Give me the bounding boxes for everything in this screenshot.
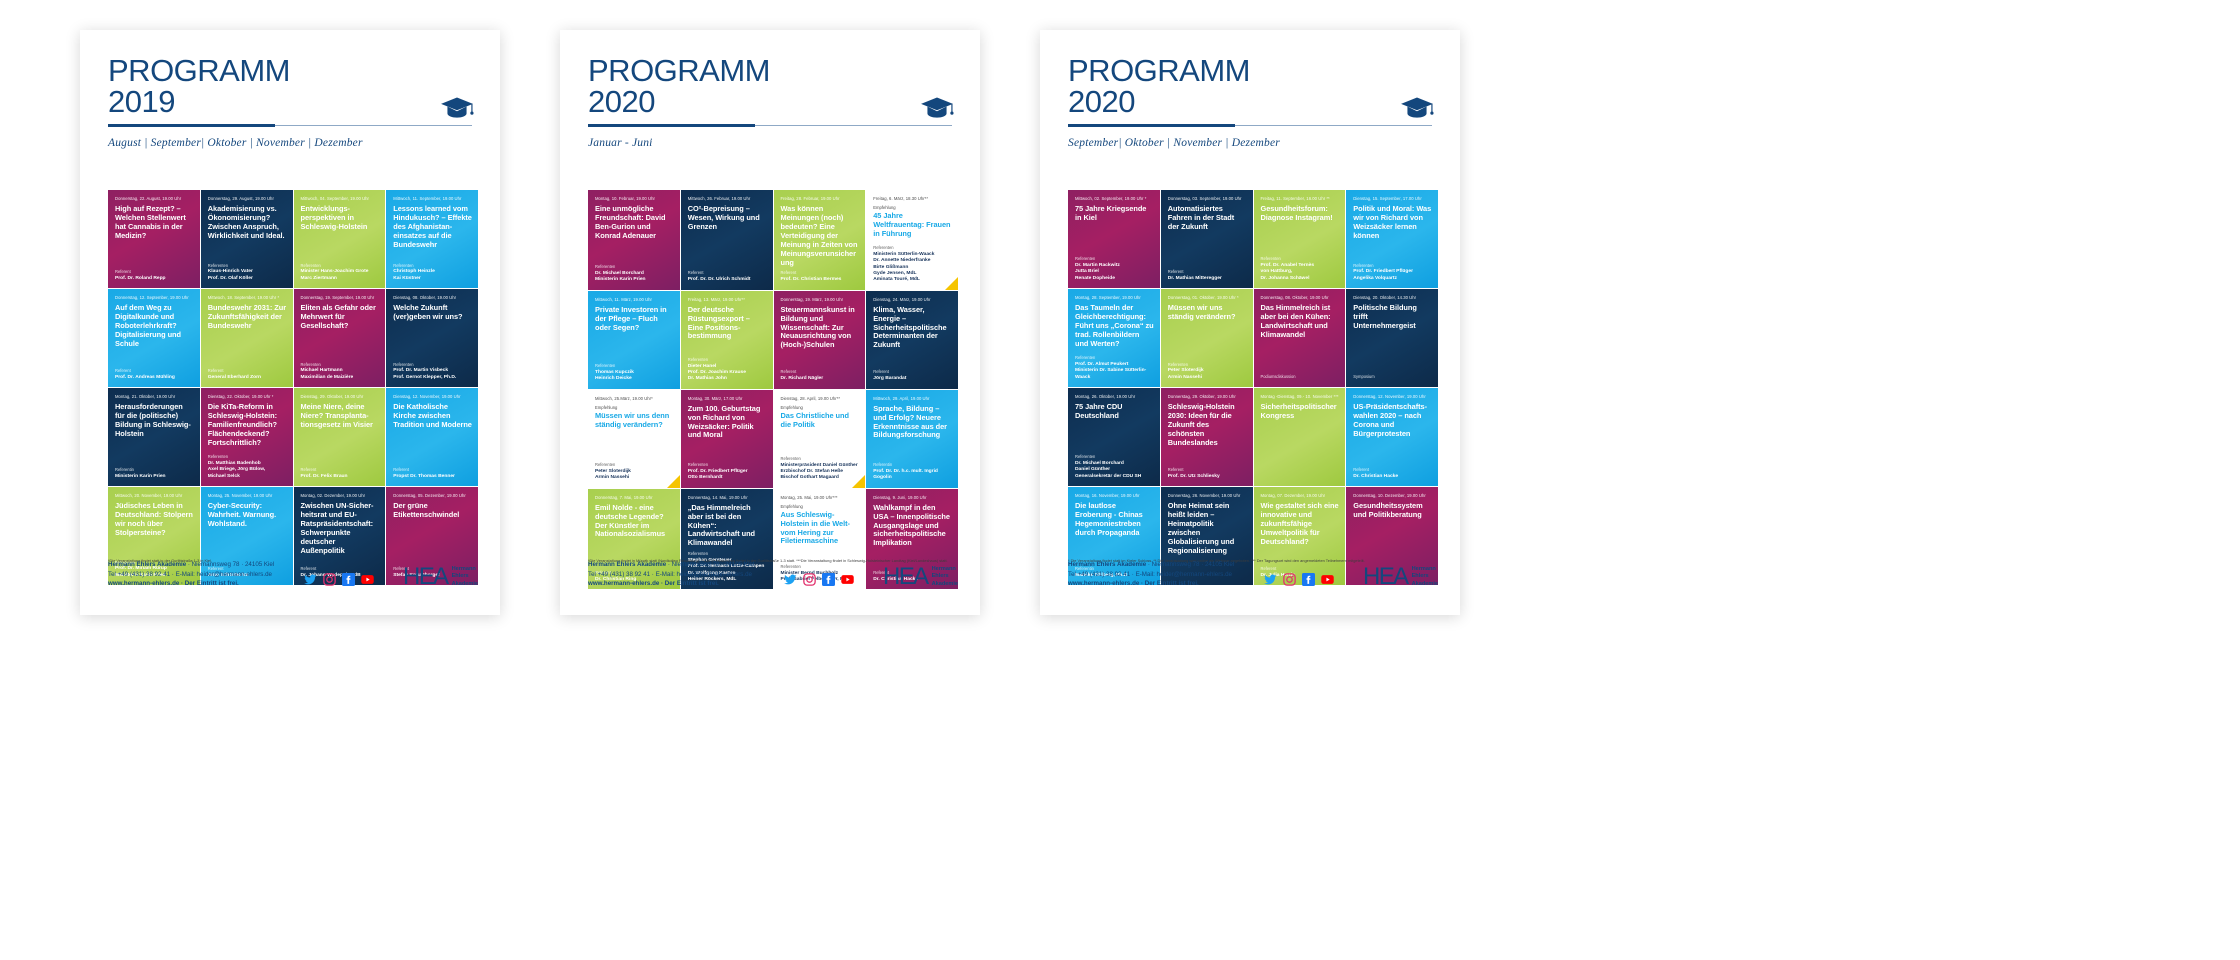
tile-date: Donnerstag, 08. Oktober, 19.00 Uhr (1261, 295, 1340, 300)
tile-speakers: Dr. Christian Hacke (1353, 474, 1432, 480)
tile-speaker-label: Referent (115, 369, 194, 374)
free-entry-note: · Der Eintritt ist frei. (179, 580, 238, 587)
event-tile[interactable]: Donnerstag, 29. August, 19.00 UhrAkademi… (201, 190, 293, 288)
event-tile[interactable]: Dienstag, 28. April, 19.00 Uhr**Empfehlu… (774, 390, 866, 488)
tile-speakers: Ministerin Sütterlin-WaackDr. Annette Ni… (873, 252, 952, 283)
tile-speakers: Peter SloterdijkArmin Nassehi (1168, 368, 1247, 381)
footer-contact-line3: www.hermann-ehlers.de · Der Eintritt ist… (588, 579, 754, 589)
hea-logo: HEAHermannEhlersAkademie (403, 566, 478, 589)
tile-date: Donnerstag, 29. August, 19.00 Uhr (208, 196, 287, 201)
tile-speakers: Dr. Mathias Mitteregger (1168, 276, 1247, 282)
tile-spacer (1168, 232, 1247, 270)
tile-spacer (115, 439, 194, 468)
tile-speaker-label: Referenten (1168, 363, 1247, 368)
tile-speakers: Klaus-Hinrich VaterProf. Dr. Olaf Köller (208, 269, 287, 282)
tile-spacer (688, 232, 767, 272)
event-tile[interactable]: Donnerstag, 22. August, 19.00 UhrHigh au… (108, 190, 200, 288)
tile-date: Dienstag, 12. November, 19.00 Uhr (393, 394, 472, 399)
tile-date: Donnerstag, 12. September, 19.00 Uhr (115, 295, 194, 300)
tile-title: Sicherheitspolitischer Kongress (1261, 403, 1340, 421)
tile-speakers: Dr. Michael BorchardDaniel GüntherGenera… (1075, 461, 1154, 480)
tile-title: US-Präsidentschafts-wahlen 2020 – nach C… (1353, 403, 1432, 439)
hea-logo-wordmark: HermannEhlersAkademie (1412, 566, 1438, 588)
footer-contact-line2: Tel +49 (431) 38 92 41 · E-Mail: heider@… (108, 570, 274, 580)
rule-thick (588, 124, 755, 127)
tile-spacer (688, 440, 767, 463)
hea-logo-wordmark: HermannEhlersAkademie (932, 566, 958, 588)
tile-title: Jüdisches Leben in Deutschland: Stolpern… (115, 502, 194, 538)
poster-footer: Hermann Ehlers Akademie · Niemannsweg 78… (1068, 560, 1438, 589)
event-tile[interactable]: Donnerstag, 29. Oktober, 19.00 UhrSchles… (1161, 388, 1253, 486)
footer-contact-line1: Hermann Ehlers Akademie · Niemannsweg 78… (1068, 560, 1234, 570)
poster-inner: PROGRAMM2020September| Oktober | Novembe… (1040, 30, 1460, 615)
tile-date: Montag, 25. Mai, 19.00 Uhr*** (781, 495, 860, 500)
tile-speaker-label: Symposium (1353, 375, 1432, 380)
tile-title: Die lautlose Eroberung - Chinas Hegemoni… (1075, 502, 1154, 538)
organization-address: · Niemannsweg 78 · 24105 Kiel (1146, 561, 1234, 568)
tile-date: Mittwoch, 26. Februar, 19.00 Uhr (688, 196, 767, 201)
graduation-cap-icon (440, 94, 474, 120)
tile-date: Dienstag, 24. März, 19.00 Uhr (873, 297, 952, 302)
youtube-icon[interactable] (1321, 573, 1334, 586)
tile-title: Steuermannskunst in Bildung und Wissensc… (781, 306, 860, 350)
event-tile[interactable]: Donnerstag, 12. November, 19.00 UhrUS-Pr… (1346, 388, 1438, 486)
event-tile[interactable]: Donnerstag, 08. Oktober, 19.00 UhrDas Hi… (1254, 289, 1346, 387)
tile-spacer (595, 332, 674, 364)
tile-spacer (1261, 421, 1340, 480)
poster-title-year: 2019 (108, 87, 472, 118)
tile-speaker-label: Referent (1353, 468, 1432, 473)
event-tile[interactable]: Montag, 21. Oktober, 19.00 UhrHerausford… (108, 388, 200, 486)
event-tile[interactable]: Mittwoch, 04. September, 19.00 UhrEntwic… (294, 190, 386, 288)
tile-speaker-label: Referentin (873, 463, 952, 468)
tile-title: Welche Zukunft (ver)geben wir uns? (393, 304, 472, 322)
tile-date: Montag, 25. November, 19.00 Uhr (208, 493, 287, 498)
tile-date: Montag, 28. September, 19.00 Uhr (1075, 295, 1154, 300)
event-tile[interactable]: Montag, 28. September, 19.00 UhrDas Taum… (1068, 289, 1160, 387)
event-tile[interactable]: Dienstag, 24. März, 19.00 UhrKlima, Wass… (866, 291, 958, 389)
tile-title: Auf dem Weg zu Digitalkunde und Roboterl… (115, 304, 194, 348)
tile-date: Dienstag, 28. April, 19.00 Uhr** (781, 396, 860, 401)
tile-title: CO²-Bepreisung – Wesen, Wirkung und Gren… (688, 205, 767, 232)
footer-contact-line3: www.hermann-ehlers.de · Der Eintritt ist… (1068, 579, 1234, 589)
tile-date: Donnerstag, 29. Oktober, 19.00 Uhr (1168, 394, 1247, 399)
graduation-cap-icon (920, 94, 954, 120)
tile-title: Schleswig-Holstein 2030: Ideen für die Z… (1168, 403, 1247, 447)
event-tile[interactable]: Mittwoch, 25.März, 19.00 Uhr*EmpfehlungM… (588, 390, 680, 488)
tile-speakers: Prof. Dr. Martin VisbeckProf. Gernot Kle… (393, 368, 472, 381)
poster-inner: PROGRAMM2019August | September| Oktober … (80, 30, 500, 615)
twitter-icon[interactable] (304, 573, 317, 586)
tile-corner-accent (945, 277, 958, 290)
event-tile[interactable]: Freitag, 11. September, 16.00 Uhr **Gesu… (1254, 190, 1346, 288)
tile-speakers: Prof. Dr. Anabel Ternèsvon Hattburg,Dr. … (1261, 263, 1340, 282)
rule-thick (108, 124, 275, 127)
tile-date: Montag, 26. Oktober, 19.00 Uhr (1075, 394, 1154, 399)
tile-title: Private Investoren in der Pflege – Fluch… (595, 306, 674, 333)
tile-speaker-label: Referenten (688, 358, 767, 363)
tile-speaker-label: Referenten (1075, 356, 1154, 361)
tile-speaker-label: Referenten (781, 457, 860, 462)
tile-date: Mittwoch, 20. November, 19.00 Uhr (115, 493, 194, 498)
tile-speakers: Propst Dr. Thomas Benner (393, 474, 472, 480)
hea-logo-mark: HEA (1363, 567, 1408, 587)
tile-spacer (1353, 241, 1432, 264)
poster-title-year: 2020 (1068, 87, 1432, 118)
tile-date: Freitag, 28. Februar, 19.00 Uhr (781, 196, 860, 201)
instagram-icon[interactable] (1283, 573, 1296, 586)
tile-title: Wie gestaltet sich eine innovative und z… (1261, 502, 1340, 546)
tile-spacer (781, 350, 860, 370)
tile-date: Mittwoch, 29. April, 19.00 Uhr (873, 396, 952, 401)
footer-contact-line3: www.hermann-ehlers.de · Der Eintritt ist… (108, 579, 274, 589)
tile-title: Der grüne Etikettenschwindel (393, 502, 472, 520)
poster-months: September| Oktober | November | Dezember (1068, 137, 1432, 149)
tile-speaker-label: Referent (393, 468, 472, 473)
footer-contact-line1: Hermann Ehlers Akademie · Niemannsweg 78… (108, 560, 274, 570)
event-tile[interactable]: Montag, 10. Februar, 19.00 UhrEine unmög… (588, 190, 680, 290)
footer-contact: Hermann Ehlers Akademie · Niemannsweg 78… (1068, 560, 1234, 589)
tile-date: Montag, 02. Dezember, 19.00 Uhr (301, 493, 380, 498)
tile-spacer (1353, 331, 1432, 375)
poster-programm-2019: PROGRAMM2019August | September| Oktober … (80, 30, 500, 615)
tile-speaker-label: Referent (873, 370, 952, 375)
rule-thick (1068, 124, 1235, 127)
social-links (784, 573, 854, 589)
youtube-icon[interactable] (841, 573, 854, 586)
event-tile[interactable]: Mittwoch, 29. April, 19.00 UhrSprache, B… (866, 390, 958, 488)
graduation-cap-icon (1400, 94, 1434, 120)
tile-date: Donnerstag, 01. Oktober, 19.00 Uhr * (1168, 295, 1247, 300)
tile-date: Donnerstag, 7. Mai, 19.00 Uhr (595, 495, 674, 500)
tile-speakers: Christoph HeinzleKai Küstner (393, 269, 472, 282)
tile-speaker-label: Referenten (873, 246, 952, 251)
tile-speakers: Jörg Barandat (873, 376, 952, 382)
tile-speaker-label: Referent (781, 370, 860, 375)
tile-speaker-label: Referenten (301, 264, 380, 269)
tile-title: „Das Himmelreich aber ist bei den Kühen“… (688, 504, 767, 548)
facebook-icon[interactable] (822, 573, 835, 586)
hea-logo: HEAHermannEhlersAkademie (883, 566, 958, 589)
hea-logo: HEAHermannEhlersAkademie (1363, 566, 1438, 589)
instagram-icon[interactable] (803, 573, 816, 586)
tile-speaker-label: Referenten (208, 455, 287, 460)
event-tile[interactable]: Freitag, 28. Februar, 19.00 UhrWas könne… (774, 190, 866, 290)
tile-date: Dienstag, 22. Oktober, 19.00 Uhr * (208, 394, 287, 399)
tile-speakers: Prof. Dr. Christian Bermes (781, 277, 860, 283)
tile-date: Montag -Dienstag, 09.- 10. November *** (1261, 394, 1340, 399)
tile-title: Das Himmelreich ist aber bei den Kühen: … (1261, 304, 1340, 340)
tile-speaker-label: Podiumsdiskussion (1261, 375, 1340, 380)
tile-title: Zum 100. Geburtstag von Richard von Weiz… (688, 405, 767, 441)
tile-spacer (393, 322, 472, 363)
event-tile[interactable]: Dienstag, 08. Oktober, 19.00 UhrWelche Z… (386, 289, 478, 387)
tile-date: Mittwoch, 11. September, 19.00 Uhr (393, 196, 472, 201)
tile-date: Donnerstag, 03. September, 19.00 Uhr (1168, 196, 1247, 201)
poster-months: August | September| Oktober | November |… (108, 137, 472, 149)
tile-spacer (1353, 439, 1432, 468)
tile-spacer (873, 440, 952, 463)
tile-spacer (1168, 322, 1247, 363)
event-tile[interactable]: Mittwoch, 26. Februar, 19.00 UhrCO²-Bepr… (681, 190, 773, 290)
title-rule (588, 124, 952, 128)
organization-name: Hermann Ehlers Akademie (108, 561, 186, 568)
event-grid: Mittwoch, 02. September, 19.00 Uhr *75 J… (1068, 190, 1438, 585)
website-url: www.hermann-ehlers.de (588, 580, 659, 587)
tile-speaker-label: Referenten (393, 264, 472, 269)
free-entry-note: · Der Eintritt ist frei. (659, 580, 718, 587)
tile-spacer (208, 331, 287, 369)
tile-spacer (873, 350, 952, 370)
organization-address: · Niemannsweg 78 · 24105 Kiel (666, 561, 754, 568)
tile-date: Dienstag, 15. September, 17.00 Uhr (1353, 196, 1432, 201)
tile-speakers: Prof. Dr. Friedbert PflügerOtto Bernhard… (688, 469, 767, 482)
tile-title: Der deutsche Rüstungsexport – Eine Posit… (688, 306, 767, 342)
tile-spacer (1075, 223, 1154, 257)
tile-title: Ohne Heimat sein heißt leiden – Heimatpo… (1168, 502, 1247, 555)
tile-date: Dienstag, 9. Juni, 19.00 Uhr (873, 495, 952, 500)
tile-date: Freitag, 6. März, 18.30 Uhr** (873, 196, 952, 201)
tile-date: Montag, 10. Februar, 19.00 Uhr (595, 196, 674, 201)
event-tile[interactable]: Dienstag, 12. November, 19.00 UhrDie Kat… (386, 388, 478, 486)
tile-speakers: Ministerin Karin Prien (115, 474, 194, 480)
tile-speakers: Prof. Dr. Andreas Mühling (115, 375, 194, 381)
poster-footer: Hermann Ehlers Akademie · Niemannsweg 78… (588, 560, 958, 589)
tile-title: Was können Meinungen (noch) bedeuten? Ei… (781, 205, 860, 267)
tile-corner-accent (667, 475, 680, 488)
tile-title: Politische Bildung trifft Unternehmergei… (1353, 304, 1432, 331)
tile-title: Die KiTa-Reform in Schleswig-Holstein: F… (208, 403, 287, 447)
tile-date: Mittwoch, 04. September, 19.00 Uhr (301, 196, 380, 201)
tile-speakers: Thomas KupczikHeinrich Deicke (595, 370, 674, 383)
tile-spacer (301, 331, 380, 363)
tile-title: Eliten als Gefahr oder Mehrwert für Gese… (301, 304, 380, 331)
tile-date: Donnerstag, 10. Dezember, 19.00 Uhr (1353, 493, 1432, 498)
hea-logo-mark: HEA (403, 567, 448, 587)
tile-date: Donnerstag, 05. Dezember, 19.00 Uhr (393, 493, 472, 498)
tile-speaker-label: Referentin (115, 468, 194, 473)
tile-date: Mittwoch, 25.März, 19.00 Uhr* (595, 396, 674, 401)
tile-speaker-label: Referent (208, 369, 287, 374)
title-rule (1068, 124, 1432, 128)
event-tile[interactable]: Dienstag, 22. Oktober, 19.00 Uhr *Die Ki… (201, 388, 293, 486)
tile-speaker-label: Referenten (1075, 257, 1154, 262)
tile-speaker-label: Referenten (688, 463, 767, 468)
tile-speaker-label: Referent (1168, 468, 1247, 473)
tile-spacer (393, 430, 472, 468)
poster-title-word: PROGRAMM (588, 53, 770, 88)
tile-speakers: Prof. Dr. Almut PeukertMinisterin Dr. Sa… (1075, 362, 1154, 381)
tile-speakers: Minister Hans-Joachim GroteMarc Ziertman… (301, 269, 380, 282)
poster-months: Januar - Juni (588, 137, 952, 149)
hea-logo-mark: HEA (883, 567, 928, 587)
event-tile[interactable]: Freitag, 13. März, 19.00 Uhr**Der deutsc… (681, 291, 773, 389)
social-links (304, 573, 374, 589)
tile-date: Montag, 16. November, 19.00 Uhr (1075, 493, 1154, 498)
tile-date: Dienstag, 08. Oktober, 19.00 Uhr (393, 295, 472, 300)
tile-date: Dienstag, 29. Oktober, 19.00 Uhr (301, 394, 380, 399)
tile-title: Akademisierung vs. Ökonomisierung? Zwisc… (208, 205, 287, 241)
tile-speaker-label: Referenten (208, 264, 287, 269)
facebook-icon[interactable] (342, 573, 355, 586)
tile-title: Das Christliche und die Politik (781, 412, 860, 430)
tile-date: Dienstag, 20. Oktober, 14.30 Uhr (1353, 295, 1432, 300)
event-tile[interactable]: Mittwoch, 02. September, 19.00 Uhr *75 J… (1068, 190, 1160, 288)
facebook-icon[interactable] (1302, 573, 1315, 586)
poster-header: PROGRAMM2019August | September| Oktober … (80, 30, 500, 149)
twitter-icon[interactable] (784, 573, 797, 586)
tile-date: Mittwoch, 11. März, 19.00 Uhr (595, 297, 674, 302)
tile-title: Sprache, Bildung – und Erfolg? Neuere Er… (873, 405, 952, 441)
tile-title: 45 Jahre Weltfrauentag: Frauen in Führun… (873, 212, 952, 239)
tile-spacer (781, 430, 860, 457)
footer-contact-line1: Hermann Ehlers Akademie · Niemannsweg 78… (588, 560, 754, 570)
event-tile[interactable]: Dienstag, 29. Oktober, 19.00 UhrMeine Ni… (294, 388, 386, 486)
poster-title-year: 2020 (588, 87, 952, 118)
tile-date: Donnerstag, 19. März, 19.00 Uhr (781, 297, 860, 302)
tile-date: Montag, 30. März, 17.00 Uhr (688, 396, 767, 401)
event-tile[interactable]: Donnerstag, 19. März, 19.00 UhrSteuerman… (774, 291, 866, 389)
poster-inner: PROGRAMM2020Januar - JuniMontag, 10. Feb… (560, 30, 980, 615)
tile-speaker-label: Referenten (1075, 455, 1154, 460)
tile-title: Aus Schleswig-Holstein in die Welt- vom … (781, 511, 860, 547)
tile-title: 75 Jahre Kriegsende in Kiel (1075, 205, 1154, 223)
event-tile[interactable]: Montag, 30. März, 17.00 UhrZum 100. Gebu… (681, 390, 773, 488)
tile-speakers: Dr. Martin RackwitzJutta BrielRenate Dop… (1075, 263, 1154, 282)
tile-date: Mittwoch, 02. September, 19.00 Uhr * (1075, 196, 1154, 201)
event-tile[interactable]: Mittwoch, 18. September, 19.00 Uhr *Bund… (201, 289, 293, 387)
poster-header: PROGRAMM2020September| Oktober | Novembe… (1040, 30, 1460, 149)
tile-speaker-label: Referenten (301, 363, 380, 368)
poster-programm-2020-h1: PROGRAMM2020Januar - JuniMontag, 10. Feb… (560, 30, 980, 615)
tile-speaker-label: Referenten (595, 265, 674, 270)
poster-title-word: PROGRAMM (1068, 53, 1250, 88)
footer-contact: Hermann Ehlers Akademie · Niemannsweg 78… (588, 560, 754, 589)
tile-speaker-label: Referent (688, 271, 767, 276)
tile-title: Cyber-Security: Wahrheit. Warnung. Wohls… (208, 502, 287, 529)
tile-spacer (688, 341, 767, 358)
tile-title: Meine Niere, deine Niere? Transplanta-ti… (301, 403, 380, 430)
twitter-icon[interactable] (1264, 573, 1277, 586)
tile-title: Gesundheitsforum: Diagnose Instagram! (1261, 205, 1340, 223)
tile-speakers: Prof. Dr. Roland Repp (115, 276, 194, 282)
tile-date: Montag, 21. Oktober, 19.00 Uhr (115, 394, 194, 399)
tile-title: Emil Nolde - eine deutsche Legende? Der … (595, 504, 674, 540)
tile-kicker: Empfehlung (873, 205, 952, 210)
tile-spacer (595, 241, 674, 265)
poster-title: PROGRAMM2019 (108, 56, 472, 117)
instagram-icon[interactable] (323, 573, 336, 586)
poster-programm-2020-h2: PROGRAMM2020September| Oktober | Novembe… (1040, 30, 1460, 615)
event-tile[interactable]: Mittwoch, 11. März, 19.00 UhrPrivate Inv… (588, 291, 680, 389)
tile-date: Mittwoch, 18. September, 19.00 Uhr * (208, 295, 287, 300)
tile-speakers: Dr. Michael BorchardMinisterin Karin Pri… (595, 271, 674, 284)
tile-spacer (1168, 448, 1247, 468)
event-tile[interactable]: Donnerstag, 03. September, 19.00 UhrAuto… (1161, 190, 1253, 288)
tile-speakers: Ministerpräsident Daniel GüntherErzbisch… (781, 463, 860, 482)
poster-footer: Hermann Ehlers Akademie · Niemannsweg 78… (108, 560, 478, 589)
tile-title: High auf Rezept? – Welchen Stellenwert h… (115, 205, 194, 241)
event-tile[interactable]: Freitag, 6. März, 18.30 Uhr**Empfehlung4… (866, 190, 958, 290)
free-entry-note: · Der Eintritt ist frei. (1139, 580, 1198, 587)
tile-speaker-label: Referent (301, 468, 380, 473)
tile-speaker-label: Referenten (595, 463, 674, 468)
event-tile[interactable]: Donnerstag, 01. Oktober, 19.00 Uhr *Müss… (1161, 289, 1253, 387)
tile-title: Müssen wir uns ständig verändern? (1168, 304, 1247, 322)
tile-spacer (301, 232, 380, 264)
event-tile[interactable]: Dienstag, 20. Oktober, 14.30 UhrPolitisc… (1346, 289, 1438, 387)
tile-speakers: Prof. Dr. Dr. Ulrich Schmidt (688, 277, 767, 283)
organization-address: · Niemannsweg 78 · 24105 Kiel (186, 561, 274, 568)
event-tile[interactable]: Dienstag, 15. September, 17.00 UhrPoliti… (1346, 190, 1438, 288)
footer-contact: Hermann Ehlers Akademie · Niemannsweg 78… (108, 560, 274, 589)
hea-logo-wordmark: HermannEhlersAkademie (452, 566, 478, 588)
tile-title: Lessons learned vom Hindukusch? – Effekt… (393, 205, 472, 249)
tile-speaker-label: Referenten (1261, 257, 1340, 262)
event-tile[interactable]: Montag -Dienstag, 09.- 10. November ***S… (1254, 388, 1346, 486)
event-tile[interactable]: Montag, 26. Oktober, 19.00 Uhr75 Jahre C… (1068, 388, 1160, 486)
tile-date: Freitag, 13. März, 19.00 Uhr** (688, 297, 767, 302)
tile-date: Donnerstag, 22. August, 19.00 Uhr (115, 196, 194, 201)
tile-speaker-label: Referenten (688, 552, 767, 557)
tile-date: Donnerstag, 19. September, 19.00 Uhr (301, 295, 380, 300)
tile-spacer (301, 430, 380, 468)
tile-kicker: Empfehlung (781, 405, 860, 410)
social-links (1264, 573, 1334, 589)
event-grid: Montag, 10. Februar, 19.00 UhrEine unmög… (588, 190, 958, 589)
tile-spacer (1075, 421, 1154, 455)
tile-date: Donnerstag, 12. November, 19.00 Uhr (1353, 394, 1432, 399)
tile-speakers: Prof. Dr. Felix Braun (301, 474, 380, 480)
tile-spacer (1261, 223, 1340, 257)
tile-title: Automatisiertes Fahren in der Stadt der … (1168, 205, 1247, 232)
tile-title: Das Taumeln der Gleichberechtigung: Führ… (1075, 304, 1154, 348)
tile-kicker: Empfehlung (595, 405, 674, 410)
poster-title: PROGRAMM2020 (1068, 56, 1432, 117)
tile-spacer (393, 250, 472, 264)
footer-contact-line2: Tel +49 (431) 38 92 41 · E-Mail: heider@… (588, 570, 754, 580)
tile-title: Wahlkampf in den USA – Innenpolitische A… (873, 504, 952, 548)
tile-date: Montag, 07. Dezember, 19.00 Uhr (1261, 493, 1340, 498)
event-grid: Donnerstag, 22. August, 19.00 UhrHigh au… (108, 190, 478, 585)
event-tile[interactable]: Donnerstag, 12. September, 19.00 UhrAuf … (108, 289, 200, 387)
poster-header: PROGRAMM2020Januar - Juni (560, 30, 980, 149)
tile-date: Donnerstag, 26. November, 19.00 Uhr (1168, 493, 1247, 498)
title-rule (108, 124, 472, 128)
footer-contact-line2: Tel +49 (431) 38 92 41 · E-Mail: heider@… (1068, 570, 1234, 580)
tile-title: Klima, Wasser, Energie – Sicherheitspoli… (873, 306, 952, 350)
tile-spacer (208, 241, 287, 264)
event-tile[interactable]: Mittwoch, 11. September, 19.00 UhrLesson… (386, 190, 478, 288)
tile-kicker: Empfehlung (781, 504, 860, 509)
event-tile[interactable]: Donnerstag, 19. September, 19.00 UhrElit… (294, 289, 386, 387)
tile-speakers: General Eberhard Zorn (208, 375, 287, 381)
tile-speaker-label: Referenten (1353, 264, 1432, 269)
tile-speakers: Dieter HanelProf. Dr. Joachim KrauseDr. … (688, 364, 767, 383)
tile-speakers: Michael HartmannMaximilian de Maizière (301, 368, 380, 381)
tile-speaker-label: Referenten (595, 364, 674, 369)
tile-speaker-label: Referent (115, 270, 194, 275)
tile-corner-accent (852, 475, 865, 488)
tile-spacer (1261, 340, 1340, 375)
youtube-icon[interactable] (361, 573, 374, 586)
website-url: www.hermann-ehlers.de (1068, 580, 1139, 587)
tile-title: Zwischen UN-Sicher-heitsrat und EU-Ratsp… (301, 502, 380, 555)
tile-speakers: Prof. Dr. Dr. h.c. mult. Ingrid Gogolin (873, 469, 952, 482)
tile-title: Eine unmögliche Freundschaft: David Ben-… (595, 205, 674, 241)
poster-title-word: PROGRAMM (108, 53, 290, 88)
tile-title: Bundeswehr 2031: Zur Zukunftsfähigkeit d… (208, 304, 287, 331)
